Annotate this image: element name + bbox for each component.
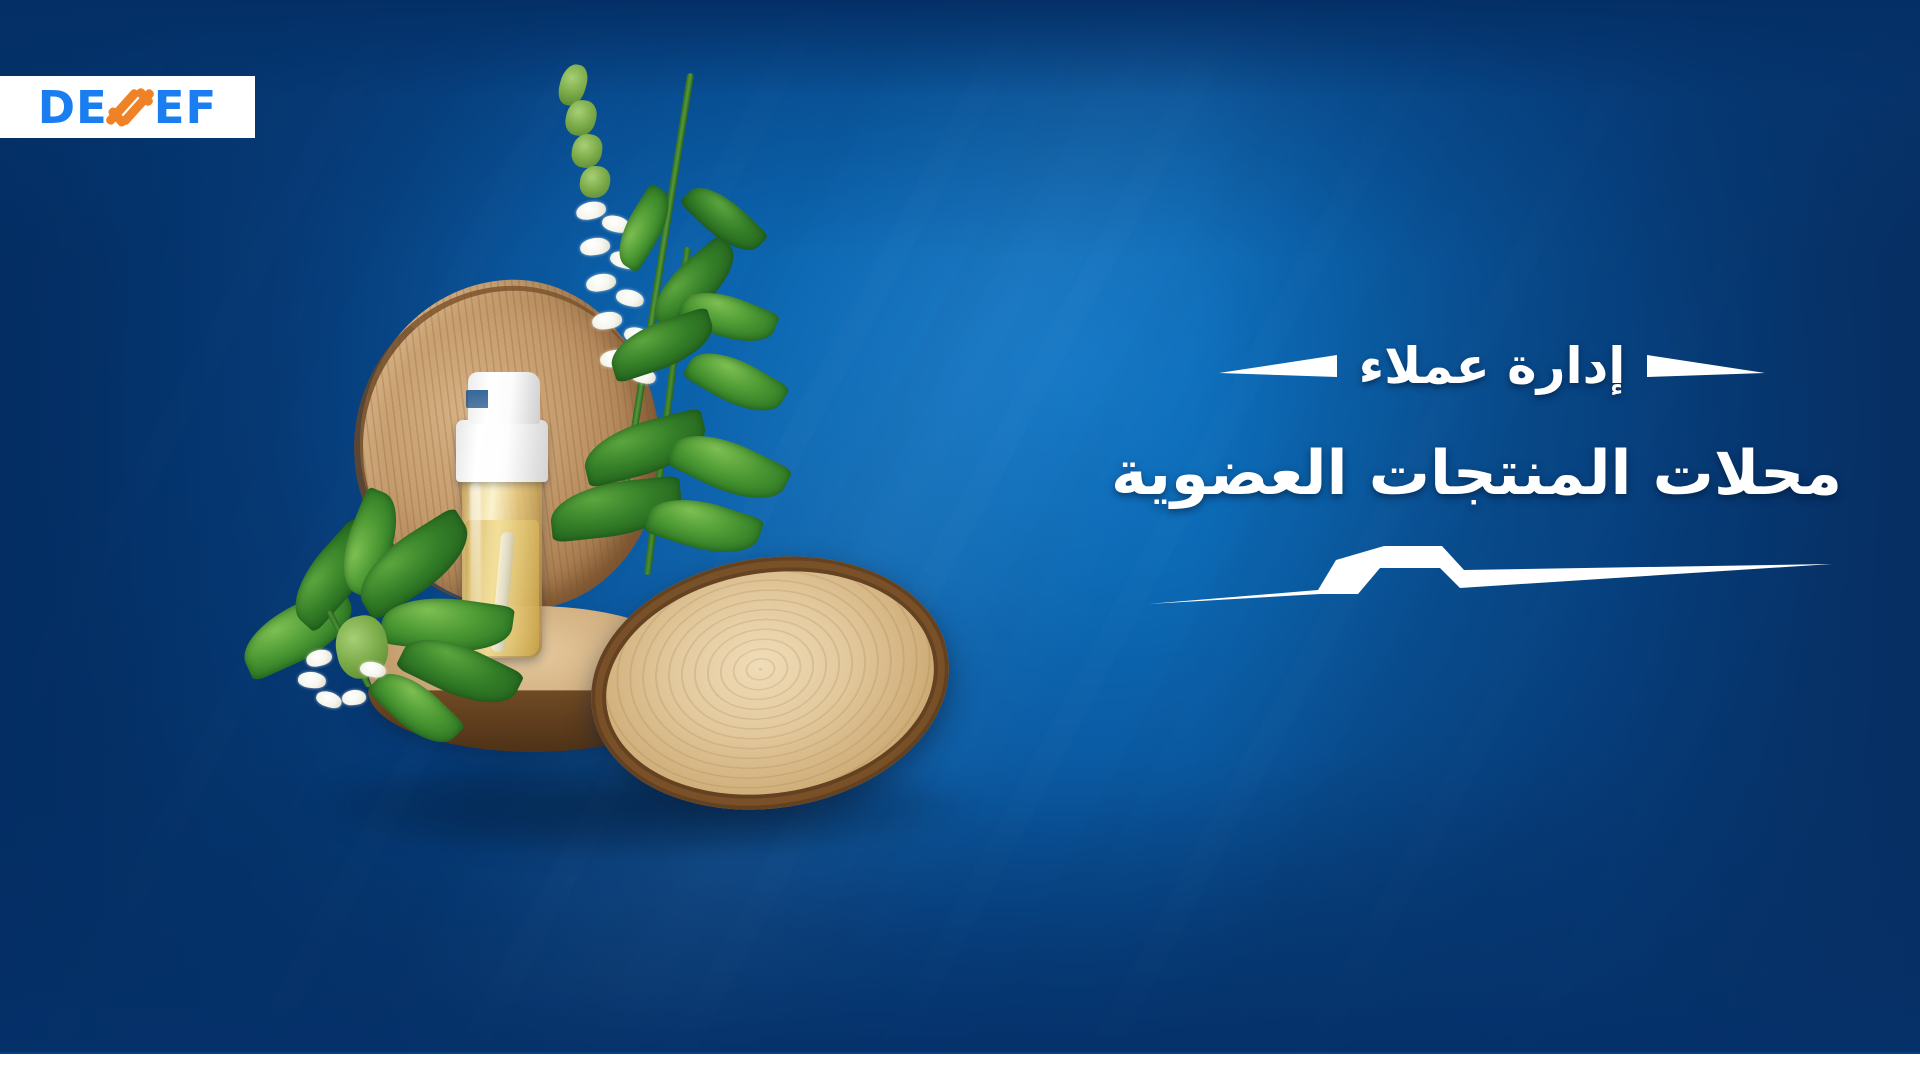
brand-logo-text-before: DE [38, 85, 108, 130]
wedge-arrow-left-icon [1219, 351, 1337, 381]
brand-logo[interactable]: DE EF [0, 76, 255, 138]
ribbon-banner-icon [1142, 530, 1842, 608]
x-mark-orange-icon [109, 85, 153, 129]
product-artwork [250, 50, 1030, 890]
bottle-pump-collar [456, 420, 548, 482]
wedge-arrow-right-icon [1647, 351, 1765, 381]
basil-flower [314, 688, 343, 710]
promo-banner: DE EF [0, 0, 1920, 1080]
brand-logo-wordmark: DE EF [38, 85, 218, 130]
basil-flower [297, 671, 327, 690]
bottle-pump-notch [466, 390, 488, 408]
eyebrow-text: إدارة عملاء [1359, 341, 1626, 391]
headline-title: محلات المنتجات العضوية [1142, 442, 1842, 506]
brand-logo-text-after: EF [154, 85, 217, 130]
basil-spike-flower [614, 287, 645, 309]
basil-spike-flower [585, 272, 617, 294]
bottom-strip [0, 1052, 1920, 1080]
basil-spike-bud [570, 132, 604, 170]
eyebrow-row: إدارة عملاء [1142, 330, 1842, 402]
basil-spike-bud [578, 165, 611, 200]
headline-block: إدارة عملاء محلات المنتجات العضوية [1142, 330, 1842, 608]
basil-flower [341, 689, 366, 706]
basil-spike-flower [579, 236, 611, 257]
